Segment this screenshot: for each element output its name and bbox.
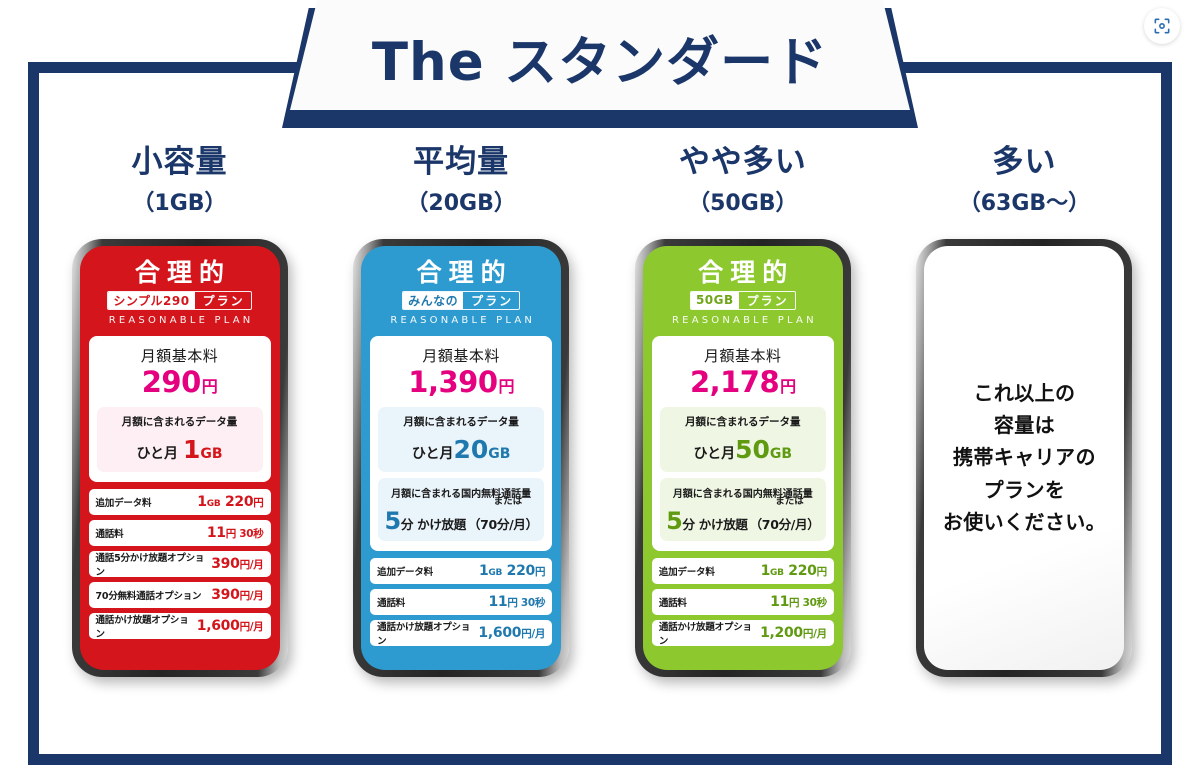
phone-screen: 合理的 みんなの プラン REASONABLE PLAN 月額基本料 1,390… [361, 246, 561, 670]
option-value: 1GB 220円 [479, 563, 545, 579]
option-value: 1GB 220円 [197, 494, 263, 510]
option-value-small: GB [488, 568, 502, 578]
plan-column-large: やや多い （50GB） 合理的 50GB プラン REASONABLE PLAN… [615, 145, 870, 725]
option-list: 追加データ料 1GB 220円 通話料 11円 30秒 通話かけ放題オプション … [370, 558, 552, 646]
column-title: やや多い [679, 145, 807, 181]
plan-badge-left: みんなの [403, 292, 463, 309]
data-allowance-title: 月額に含まれるデータ量 [665, 414, 821, 429]
option-value-suffix: 円 [535, 566, 545, 578]
price-label: 月額基本料 [97, 345, 263, 366]
phone-screen: 合理的 シンプル290 プラン REASONABLE PLAN 月額基本料 29… [80, 246, 280, 670]
plan-badge: シンプル290 プラン [107, 291, 251, 310]
price-value: 290 [142, 365, 201, 399]
option-label: 追加データ料 [659, 564, 715, 578]
data-prefix: ひと月 [694, 446, 736, 462]
option-value: 1,600円/月 [478, 625, 545, 641]
data-allowance-box: 月額に含まれるデータ量 ひと月20GB [378, 407, 544, 472]
option-value: 390円/月 [211, 556, 263, 572]
plan-columns: 小容量 （1GB） 合理的 シンプル290 プラン REASONABLE PLA… [52, 145, 1152, 725]
option-value-suffix: 円 [817, 566, 827, 578]
option-value-main: 390 [211, 587, 239, 603]
call-text: 分 かけ放題 [683, 514, 748, 533]
option-label: 通話5分かけ放題オプション [96, 550, 212, 578]
option-value-suffix: 円/月 [240, 590, 264, 602]
option-value-main: 1,600 [197, 618, 240, 634]
data-allowance-box: 月額に含まれるデータ量 ひと月 1GB [97, 407, 263, 472]
data-allowance-box: 月額に含まれるデータ量 ひと月50GB [660, 407, 826, 472]
option-row: 通話料 11円 30秒 [89, 520, 271, 546]
option-value: 11円 30秒 [770, 594, 827, 610]
call-minutes: 5 [384, 509, 400, 533]
carrier-message-line: 容量は [943, 409, 1106, 441]
price-yen: 円 [499, 377, 515, 396]
plan-badge: 50GB プラン [690, 291, 796, 310]
plan-badge-right: プラン [195, 292, 251, 309]
data-unit: GB [200, 446, 222, 462]
price-value: 1,390 [408, 365, 497, 399]
brand-block: 合理的 50GB プラン REASONABLE PLAN [643, 246, 843, 332]
option-value-suffix: 円 [253, 497, 263, 509]
plan-badge: みんなの プラン [402, 291, 520, 310]
price-amount: 290円 [97, 367, 263, 399]
call-minutes: 5 [666, 509, 682, 533]
option-value-suffix: 円 30秒 [507, 597, 545, 609]
title-banner: The スタンダード [282, 0, 918, 128]
page-title: The スタンダード [372, 14, 828, 96]
data-allowance-value: ひと月20GB [383, 435, 539, 464]
option-value-suffix: 円/月 [521, 628, 545, 640]
option-label: 通話かけ放題オプション [377, 619, 478, 647]
option-value-main: 220 [225, 494, 253, 510]
option-label: 通話かけ放題オプション [659, 619, 760, 647]
option-list: 追加データ料 1GB 220円 通話料 11円 30秒 通話5分かけ放題オプショ… [89, 489, 271, 639]
plan-badge-left: 50GB [691, 292, 739, 309]
option-row: 通話料 11円 30秒 [370, 589, 552, 615]
data-allowance-value: ひと月 1GB [102, 435, 258, 464]
option-value: 11円 30秒 [488, 594, 545, 610]
data-allowance-title: 月額に含まれるデータ量 [383, 414, 539, 429]
plan-badge-right: プラン [739, 292, 795, 309]
option-row: 追加データ料 1GB 220円 [370, 558, 552, 584]
column-subtitle: （50GB） [688, 185, 797, 217]
column-title: 多い [992, 145, 1056, 181]
option-value: 1GB 220円 [761, 563, 827, 579]
brand-english: REASONABLE PLAN [88, 315, 272, 326]
plan-badge-right: プラン [463, 292, 519, 309]
option-row: 通話かけ放題オプション 1,200円/月 [652, 620, 834, 646]
carrier-message-line: プランを [943, 474, 1106, 506]
carrier-message-line: お使いください。 [943, 506, 1106, 538]
option-value-prefix: 1 [197, 494, 206, 510]
scan-frame-icon [1152, 16, 1172, 36]
brand-name: 合理的 [369, 260, 553, 285]
option-row: 通話かけ放題オプション 1,600円/月 [370, 620, 552, 646]
data-amount: 50 [735, 435, 770, 464]
option-value: 11円 30秒 [207, 525, 264, 541]
price-amount: 2,178円 [660, 367, 826, 399]
carrier-message-line: これ以上の [943, 377, 1106, 409]
phone-screen: 合理的 50GB プラン REASONABLE PLAN 月額基本料 2,178… [643, 246, 843, 670]
option-value: 1,600円/月 [197, 618, 264, 634]
price-card: 月額基本料 2,178円 月額に含まれるデータ量 ひと月50GB 月額に含まれる… [652, 336, 834, 551]
banner-face: The スタンダード [290, 0, 910, 110]
option-value-suffix: 円/月 [803, 628, 827, 640]
plan-badge-left: シンプル290 [108, 292, 194, 309]
option-label: 追加データ料 [96, 495, 152, 509]
data-unit: GB [488, 446, 510, 462]
data-allowance-value: ひと月50GB [665, 435, 821, 464]
call-allowance-or: または [494, 493, 523, 507]
option-value: 1,200円/月 [760, 625, 827, 641]
call-paren: （70分/月） [750, 514, 820, 533]
data-unit: GB [770, 446, 792, 462]
option-label: 追加データ料 [377, 564, 433, 578]
column-title: 小容量 [132, 145, 228, 181]
option-row: 70分無料通話オプション 390円/月 [89, 582, 271, 608]
call-allowance-or: または [775, 493, 804, 507]
column-subtitle: （63GB〜） [959, 185, 1090, 217]
capture-button[interactable] [1144, 8, 1180, 44]
data-allowance-title: 月額に含まれるデータ量 [102, 414, 258, 429]
price-label: 月額基本料 [660, 345, 826, 366]
column-title: 平均量 [413, 145, 509, 181]
call-paren: （70分/月） [468, 514, 538, 533]
data-prefix: ひと月 [412, 446, 454, 462]
phone-mockup: 合理的 みんなの プラン REASONABLE PLAN 月額基本料 1,390… [353, 239, 569, 677]
option-value-prefix: 1 [479, 563, 488, 579]
option-row: 通話料 11円 30秒 [652, 589, 834, 615]
plan-column-carrier: 多い （63GB〜） これ以上の 容量は 携帯キャリアの プランを お使いくださ… [897, 145, 1152, 725]
option-list: 追加データ料 1GB 220円 通話料 11円 30秒 通話かけ放題オプション … [652, 558, 834, 646]
phone-mockup: 合理的 50GB プラン REASONABLE PLAN 月額基本料 2,178… [635, 239, 851, 677]
brand-name: 合理的 [651, 260, 835, 285]
price-card: 月額基本料 1,390円 月額に含まれるデータ量 ひと月20GB 月額に含まれる… [370, 336, 552, 551]
option-label: 通話料 [96, 526, 124, 540]
option-value-suffix: 円 30秒 [789, 597, 827, 609]
plan-column-small: 小容量 （1GB） 合理的 シンプル290 プラン REASONABLE PLA… [52, 145, 307, 725]
plan-column-average: 平均量 （20GB） 合理的 みんなの プラン REASONABLE PLAN … [334, 145, 589, 725]
price-value: 2,178 [690, 365, 779, 399]
option-label: 70分無料通話オプション [96, 588, 202, 602]
price-amount: 1,390円 [378, 367, 544, 399]
call-allowance-value: 5分 かけ放題（70分/月） [383, 509, 539, 533]
column-subtitle: （1GB） [132, 185, 226, 217]
call-text: 分 かけ放題 [401, 514, 466, 533]
option-value-main: 1,200 [760, 625, 803, 641]
phone-screen: これ以上の 容量は 携帯キャリアの プランを お使いください。 [924, 246, 1124, 670]
option-row: 追加データ料 1GB 220円 [652, 558, 834, 584]
call-allowance-value: 5分 かけ放題（70分/月） [665, 509, 821, 533]
option-value-suffix: 円 30秒 [226, 528, 264, 540]
option-value-small: GB [770, 568, 784, 578]
option-row: 通話かけ放題オプション 1,600円/月 [89, 613, 271, 639]
data-prefix: ひと月 [136, 446, 178, 462]
brand-english: REASONABLE PLAN [651, 315, 835, 326]
data-amount: 20 [453, 435, 488, 464]
brand-name: 合理的 [88, 260, 272, 285]
option-value-main: 11 [488, 594, 507, 610]
price-yen: 円 [780, 377, 796, 396]
option-value-main: 11 [770, 594, 789, 610]
option-value-main: 11 [207, 525, 226, 541]
option-value-main: 220 [788, 563, 816, 579]
option-value: 390円/月 [211, 587, 263, 603]
call-allowance-box: 月額に含まれる国内無料通話量 または 5分 かけ放題（70分/月） [378, 478, 544, 541]
price-card: 月額基本料 290円 月額に含まれるデータ量 ひと月 1GB [89, 336, 271, 482]
option-label: 通話料 [659, 595, 687, 609]
slide-root: The スタンダード 小容量 （1GB） 合理的 シンプル290 プラン REA… [0, 0, 1200, 780]
option-value-small: GB [207, 499, 221, 509]
brand-block: 合理的 みんなの プラン REASONABLE PLAN [361, 246, 561, 332]
carrier-message: これ以上の 容量は 携帯キャリアの プランを お使いください。 [943, 377, 1106, 539]
phone-mockup: これ以上の 容量は 携帯キャリアの プランを お使いください。 [916, 239, 1132, 677]
option-row: 通話5分かけ放題オプション 390円/月 [89, 551, 271, 577]
option-value-suffix: 円/月 [240, 559, 264, 571]
option-value-main: 390 [211, 556, 239, 572]
call-allowance-box: 月額に含まれる国内無料通話量 または 5分 かけ放題（70分/月） [660, 478, 826, 541]
price-label: 月額基本料 [378, 345, 544, 366]
brand-english: REASONABLE PLAN [369, 315, 553, 326]
option-row: 追加データ料 1GB 220円 [89, 489, 271, 515]
column-subtitle: （20GB） [406, 185, 515, 217]
price-yen: 円 [202, 377, 218, 396]
option-value-suffix: 円/月 [240, 621, 264, 633]
data-amount: 1 [183, 435, 200, 464]
option-value-main: 1,600 [478, 625, 521, 641]
option-label: 通話かけ放題オプション [96, 612, 197, 640]
phone-mockup: 合理的 シンプル290 プラン REASONABLE PLAN 月額基本料 29… [72, 239, 288, 677]
carrier-message-line: 携帯キャリアの [943, 441, 1106, 473]
brand-block: 合理的 シンプル290 プラン REASONABLE PLAN [80, 246, 280, 332]
option-value-prefix: 1 [761, 563, 770, 579]
option-value-main: 220 [507, 563, 535, 579]
option-label: 通話料 [377, 595, 405, 609]
